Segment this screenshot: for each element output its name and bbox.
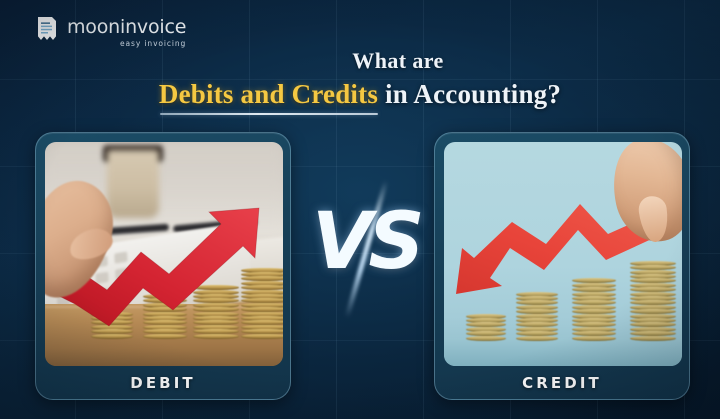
- coin-stack-4: [630, 261, 676, 340]
- brand-name: mooninvoice: [67, 18, 186, 37]
- versus-label: VS: [312, 186, 408, 298]
- coin-stack-3: [572, 278, 616, 340]
- debit-card[interactable]: DEBIT: [35, 132, 291, 400]
- debit-label: DEBIT: [45, 366, 281, 400]
- brand-logo[interactable]: mooninvoice easy invoicing: [36, 16, 186, 48]
- headline-suffix-text: in Accounting?: [378, 79, 561, 109]
- infographic-canvas: mooninvoice easy invoicing What are Debi…: [0, 0, 720, 419]
- headline-line-1: What are: [0, 48, 720, 74]
- brand-text-block: mooninvoice easy invoicing: [67, 16, 186, 48]
- brand-tagline: easy invoicing: [67, 40, 186, 48]
- headline-line-2: Debits and Credits in Accounting?: [0, 79, 720, 110]
- coin-stack-2: [516, 292, 558, 340]
- debit-photo: [45, 142, 283, 366]
- headline-block: What are Debits and Credits in Accountin…: [0, 48, 720, 110]
- headline-accent-text: Debits and Credits: [159, 79, 378, 109]
- credit-label: CREDIT: [444, 366, 680, 400]
- versus-divider: VS: [312, 186, 408, 312]
- credit-card[interactable]: CREDIT: [434, 132, 690, 400]
- coin-stack-1: [466, 314, 506, 340]
- invoice-document-icon: [36, 16, 58, 42]
- credit-photo: [444, 142, 682, 366]
